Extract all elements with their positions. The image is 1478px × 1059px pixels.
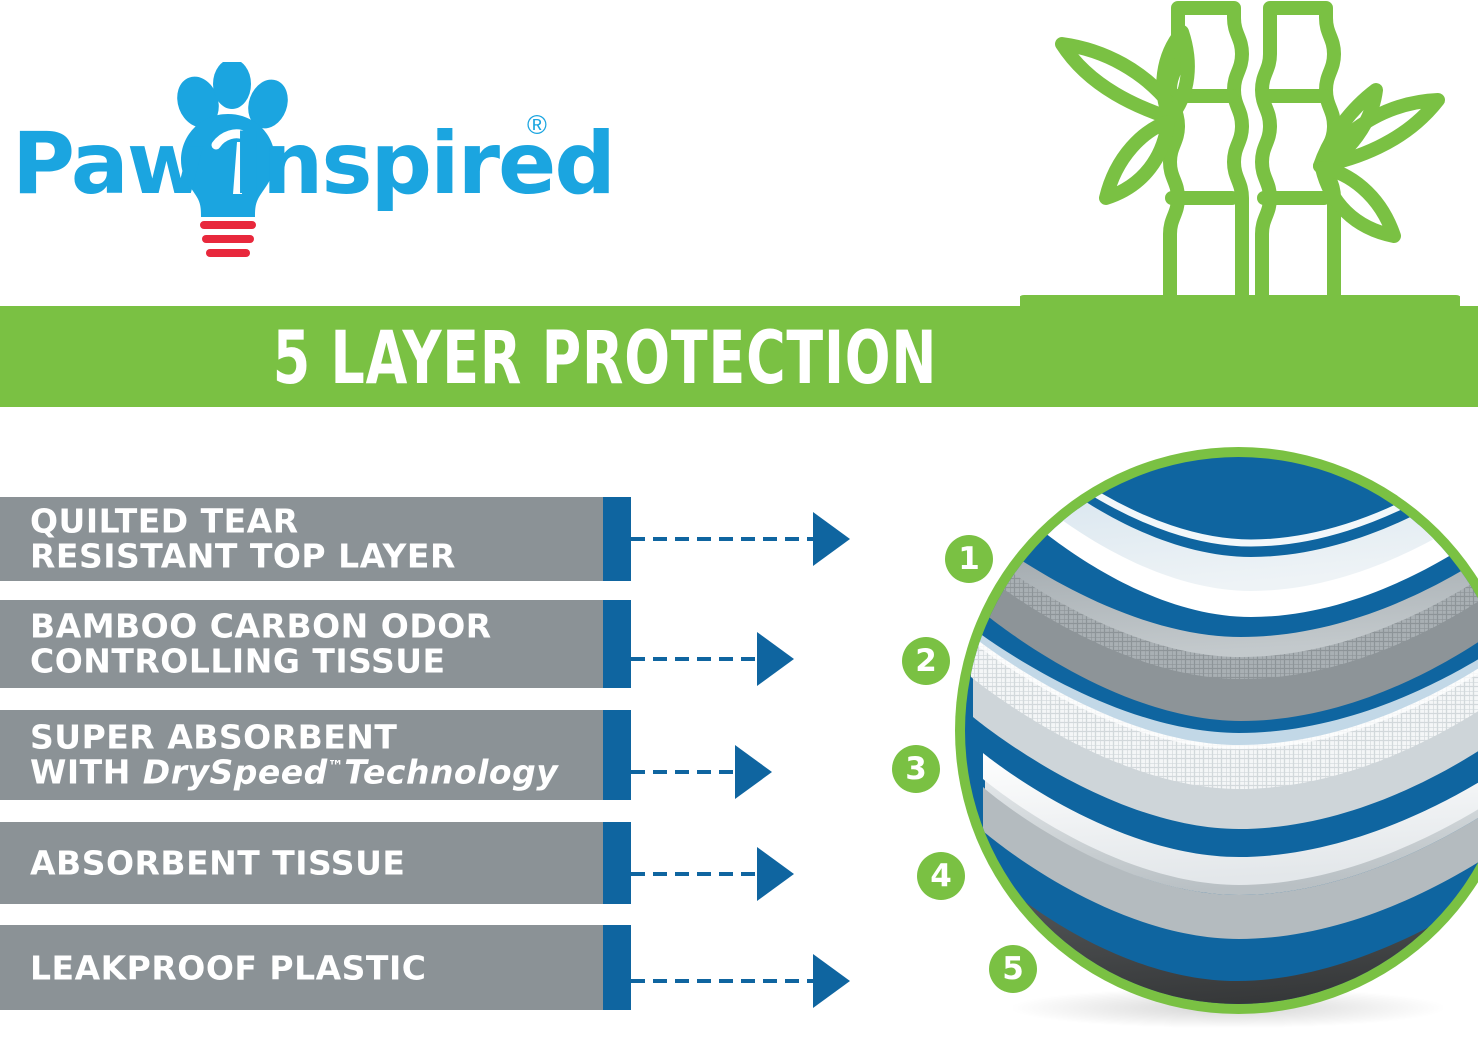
connector-arrowhead-3 [735,745,772,799]
registered-trademark-symbol: ® [527,110,547,141]
layer-label-line1-2: BAMBOO CARBON ODOR [30,609,590,644]
layer-badge-1: 1 [945,535,993,583]
layer-badge-2: 2 [902,637,950,685]
bamboo-stalks-icon [1020,0,1460,306]
infographic-page: Paw Inspired ® [0,0,1478,1059]
layer-label-line1-3: SUPER ABSORBENT [30,720,590,755]
connector-line-4 [631,872,771,876]
layer-label-line2-1: RESISTANT TOP LAYER [30,539,590,574]
layer-row-3: SUPER ABSORBENT WITH DrySpeed™Technology [0,710,880,800]
layer-badge-5: 5 [989,945,1037,993]
connector-arrowhead-4 [757,847,794,901]
page-title: 5 LAYER PROTECTION [109,316,1101,401]
layer-label-line1-4: ABSORBENT TISSUE [30,845,590,880]
layer-bar-accent-5 [603,925,631,1010]
layer-row-1: QUILTED TEAR RESISTANT TOP LAYER [0,497,880,581]
brand-dryspeed: DrySpeed [143,753,328,792]
layer-badge-3: 3 [892,745,940,793]
layer-label-text-2: BAMBOO CARBON ODOR CONTROLLING TISSUE [30,609,590,680]
layer-label-text-1: QUILTED TEAR RESISTANT TOP LAYER [30,504,590,575]
layer-row-4: ABSORBENT TISSUE [0,822,880,904]
layer-label-line1-1: QUILTED TEAR [30,504,590,539]
layer-bar-accent-3 [603,710,631,800]
layer-label-line2-suffix-3: Technology [344,753,558,792]
connector-line-1 [631,537,827,541]
connector-arrowhead-5 [813,954,850,1008]
brand-name: Paw Inspired [12,114,614,214]
connector-arrowhead-1 [813,512,850,566]
layer-label-text-5: LEAKPROOF PLASTIC [30,950,590,985]
connector-line-5 [631,979,827,983]
connector-line-3 [631,770,749,774]
connector-line-2 [631,657,771,661]
connector-arrowhead-2 [757,632,794,686]
layer-bar-accent-2 [603,600,631,688]
layer-label-line2-2: CONTROLLING TISSUE [30,644,590,679]
layer-row-5: LEAKPROOF PLASTIC [0,925,880,1010]
layer-label-line2-3: WITH DrySpeed™Technology [30,755,590,790]
layer-label-line2-prefix-3: WITH [30,753,143,792]
brand-logo: Paw Inspired ® [8,62,568,212]
layer-label-text-4: ABSORBENT TISSUE [30,845,590,880]
layer-row-2: BAMBOO CARBON ODOR CONTROLLING TISSUE [0,600,880,688]
five-layer-cutaway-illustration: 1 2 3 4 5 [893,440,1478,1040]
trademark-symbol-3: ™ [328,757,345,776]
layer-label-text-3: SUPER ABSORBENT WITH DrySpeed™Technology [30,720,590,791]
layer-bar-accent-4 [603,822,631,904]
layer-bar-accent-1 [603,497,631,581]
layer-label-line1-5: LEAKPROOF PLASTIC [30,950,590,985]
layer-badge-4: 4 [917,852,965,900]
